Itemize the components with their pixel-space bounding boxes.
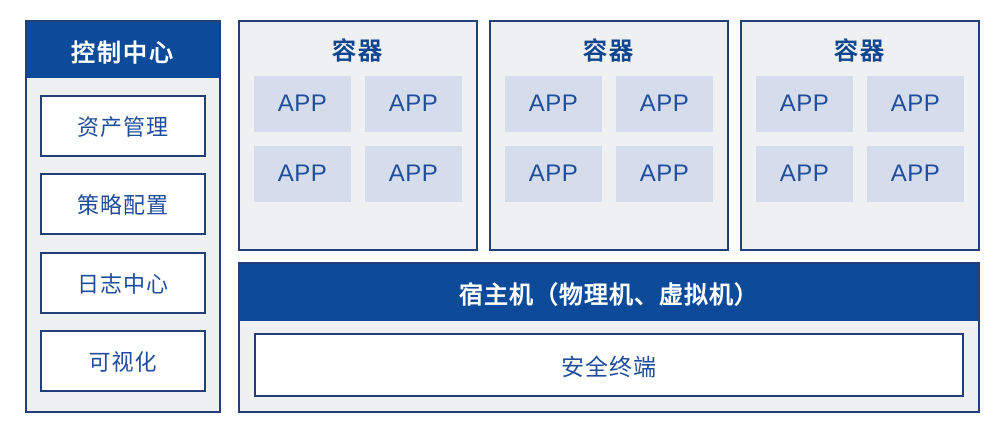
container-box-3: 容器 APP APP APP APP bbox=[740, 20, 980, 251]
control-center-panel: 控制中心 资产管理 策略配置 日志中心 可视化 bbox=[25, 20, 221, 413]
host-panel-body: 安全终端 bbox=[240, 321, 978, 411]
containers-row: 容器 APP APP APP APP 容器 APP APP APP APP bbox=[238, 20, 980, 251]
control-item-visualization[interactable]: 可视化 bbox=[40, 330, 206, 392]
host-panel-header: 宿主机（物理机、虚拟机） bbox=[240, 264, 978, 321]
control-item-asset-management[interactable]: 资产管理 bbox=[40, 95, 206, 157]
app-box[interactable]: APP bbox=[616, 76, 713, 132]
container-title: 容器 bbox=[834, 40, 886, 64]
app-grid: APP APP APP APP bbox=[742, 76, 978, 202]
app-grid: APP APP APP APP bbox=[491, 76, 727, 202]
host-panel: 宿主机（物理机、虚拟机） 安全终端 bbox=[238, 262, 980, 413]
app-box[interactable]: APP bbox=[365, 146, 462, 202]
workload-stack: 容器 APP APP APP APP 容器 APP APP APP APP bbox=[238, 20, 980, 413]
app-box[interactable]: APP bbox=[867, 146, 964, 202]
control-center-item-list: 资产管理 策略配置 日志中心 可视化 bbox=[27, 78, 219, 411]
control-center-header: 控制中心 bbox=[27, 22, 219, 78]
control-item-label: 策略配置 bbox=[77, 188, 169, 220]
container-box-1: 容器 APP APP APP APP bbox=[238, 20, 478, 251]
app-box[interactable]: APP bbox=[254, 76, 351, 132]
architecture-diagram: 控制中心 资产管理 策略配置 日志中心 可视化 容器 APP APP bbox=[0, 0, 1001, 437]
app-grid: APP APP APP APP bbox=[240, 76, 476, 202]
container-title: 容器 bbox=[332, 40, 384, 64]
control-item-log-center[interactable]: 日志中心 bbox=[40, 252, 206, 314]
control-item-label: 日志中心 bbox=[77, 267, 169, 299]
app-box[interactable]: APP bbox=[505, 76, 602, 132]
app-box[interactable]: APP bbox=[756, 76, 853, 132]
control-item-label: 资产管理 bbox=[77, 110, 169, 142]
app-box[interactable]: APP bbox=[254, 146, 351, 202]
app-box[interactable]: APP bbox=[505, 146, 602, 202]
container-title: 容器 bbox=[583, 40, 635, 64]
app-box[interactable]: APP bbox=[365, 76, 462, 132]
security-endpoint-box[interactable]: 安全终端 bbox=[254, 333, 964, 397]
app-box[interactable]: APP bbox=[867, 76, 964, 132]
container-box-2: 容器 APP APP APP APP bbox=[489, 20, 729, 251]
app-box[interactable]: APP bbox=[616, 146, 713, 202]
app-box[interactable]: APP bbox=[756, 146, 853, 202]
control-item-label: 可视化 bbox=[88, 345, 157, 377]
control-item-policy-configuration[interactable]: 策略配置 bbox=[40, 173, 206, 235]
